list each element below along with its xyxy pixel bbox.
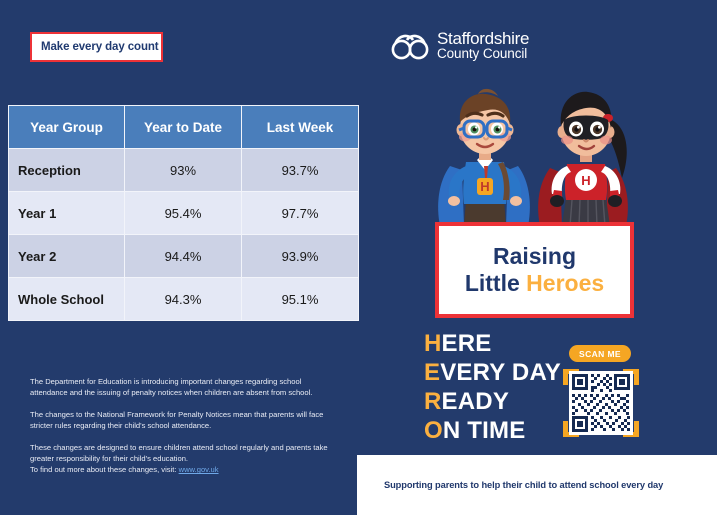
cell-year-to-date: 93% xyxy=(125,149,242,192)
cell-year-group: Year 1 xyxy=(9,192,125,235)
tagline-text: Make every day count xyxy=(41,41,159,53)
raising-little-heroes-plaque: Raising Little Heroes xyxy=(435,222,634,318)
raising-heroes-word-heroes: Heroes xyxy=(526,270,604,296)
council-name-line1: Staffordshire xyxy=(437,30,529,47)
info-paragraph-3: These changes are designed to ensure chi… xyxy=(30,442,330,476)
acrostic-cap-e: E xyxy=(424,359,440,386)
acrostic-line-ready: READY xyxy=(424,387,561,416)
staffordshire-knot-icon xyxy=(389,31,431,61)
acrostic-cap-o: O xyxy=(424,417,443,444)
table-row: Reception 93% 93.7% xyxy=(9,149,359,192)
cell-year-group: Whole School xyxy=(9,278,125,321)
two-superhero-children-illustration: H xyxy=(420,74,640,226)
info-paragraph-3-text: These changes are designed to ensure chi… xyxy=(30,443,328,463)
table-header-row: Year Group Year to Date Last Week xyxy=(9,106,359,149)
scan-me-label: SCAN ME xyxy=(579,349,621,359)
acrostic-rest-on-time: N TIME xyxy=(443,417,526,444)
acrostic-line-on-time: ON TIME xyxy=(424,416,561,445)
column-header-last-week: Last Week xyxy=(242,106,359,149)
acrostic-rest-here: ERE xyxy=(442,330,492,357)
attendance-poster: Make every day count Year Group Year to … xyxy=(0,0,717,515)
svg-text:H: H xyxy=(480,179,489,194)
cell-year-to-date: 95.4% xyxy=(125,192,242,235)
info-paragraph-1: The Department for Education is introduc… xyxy=(30,376,330,399)
acrostic-line-here: HERE xyxy=(424,329,561,358)
info-visit-text: To find out more about these changes, vi… xyxy=(30,465,179,474)
council-logo: Staffordshire County Council xyxy=(389,30,529,61)
information-copy: The Department for Education is introduc… xyxy=(30,376,330,476)
cell-year-to-date: 94.4% xyxy=(125,235,242,278)
acrostic-rest-ready: EADY xyxy=(442,388,509,415)
svg-text:H: H xyxy=(581,173,590,188)
cell-last-week: 95.1% xyxy=(242,278,359,321)
cell-year-to-date: 94.3% xyxy=(125,278,242,321)
footer-strip: Supporting parents to help their child t… xyxy=(357,455,717,515)
gov-uk-link[interactable]: www.gov.uk xyxy=(179,465,219,474)
tagline-banner: Make every day count xyxy=(30,32,163,62)
table-row: Year 1 95.4% 97.7% xyxy=(9,192,359,235)
cell-year-group: Reception xyxy=(9,149,125,192)
acrostic-line-every-day: EVERY DAY xyxy=(424,358,561,387)
cell-last-week: 97.7% xyxy=(242,192,359,235)
raising-heroes-line2: Little Heroes xyxy=(465,270,604,297)
council-wordmark: Staffordshire County Council xyxy=(437,30,529,61)
info-paragraph-2: The changes to the National Framework fo… xyxy=(30,409,330,432)
raising-heroes-line1: Raising xyxy=(493,243,576,270)
raising-heroes-word-little: Little xyxy=(465,270,520,296)
cell-last-week: 93.9% xyxy=(242,235,359,278)
column-header-year-group: Year Group xyxy=(9,106,125,149)
council-name-line2: County Council xyxy=(437,47,529,61)
acrostic-cap-h: H xyxy=(424,330,442,357)
hero-acrostic: HERE EVERY DAY READY ON TIME xyxy=(424,329,561,445)
acrostic-rest-every-day: VERY DAY xyxy=(440,359,561,386)
table-row: Whole School 94.3% 95.1% xyxy=(9,278,359,321)
footer-text: Supporting parents to help their child t… xyxy=(384,480,663,490)
column-header-year-to-date: Year to Date xyxy=(125,106,242,149)
acrostic-cap-r: R xyxy=(424,388,442,415)
scan-me-badge[interactable]: SCAN ME xyxy=(569,345,631,362)
qr-code[interactable] xyxy=(563,363,639,441)
table-row: Year 2 94.4% 93.9% xyxy=(9,235,359,278)
cell-year-group: Year 2 xyxy=(9,235,125,278)
cell-last-week: 93.7% xyxy=(242,149,359,192)
attendance-table: Year Group Year to Date Last Week Recept… xyxy=(8,105,359,321)
